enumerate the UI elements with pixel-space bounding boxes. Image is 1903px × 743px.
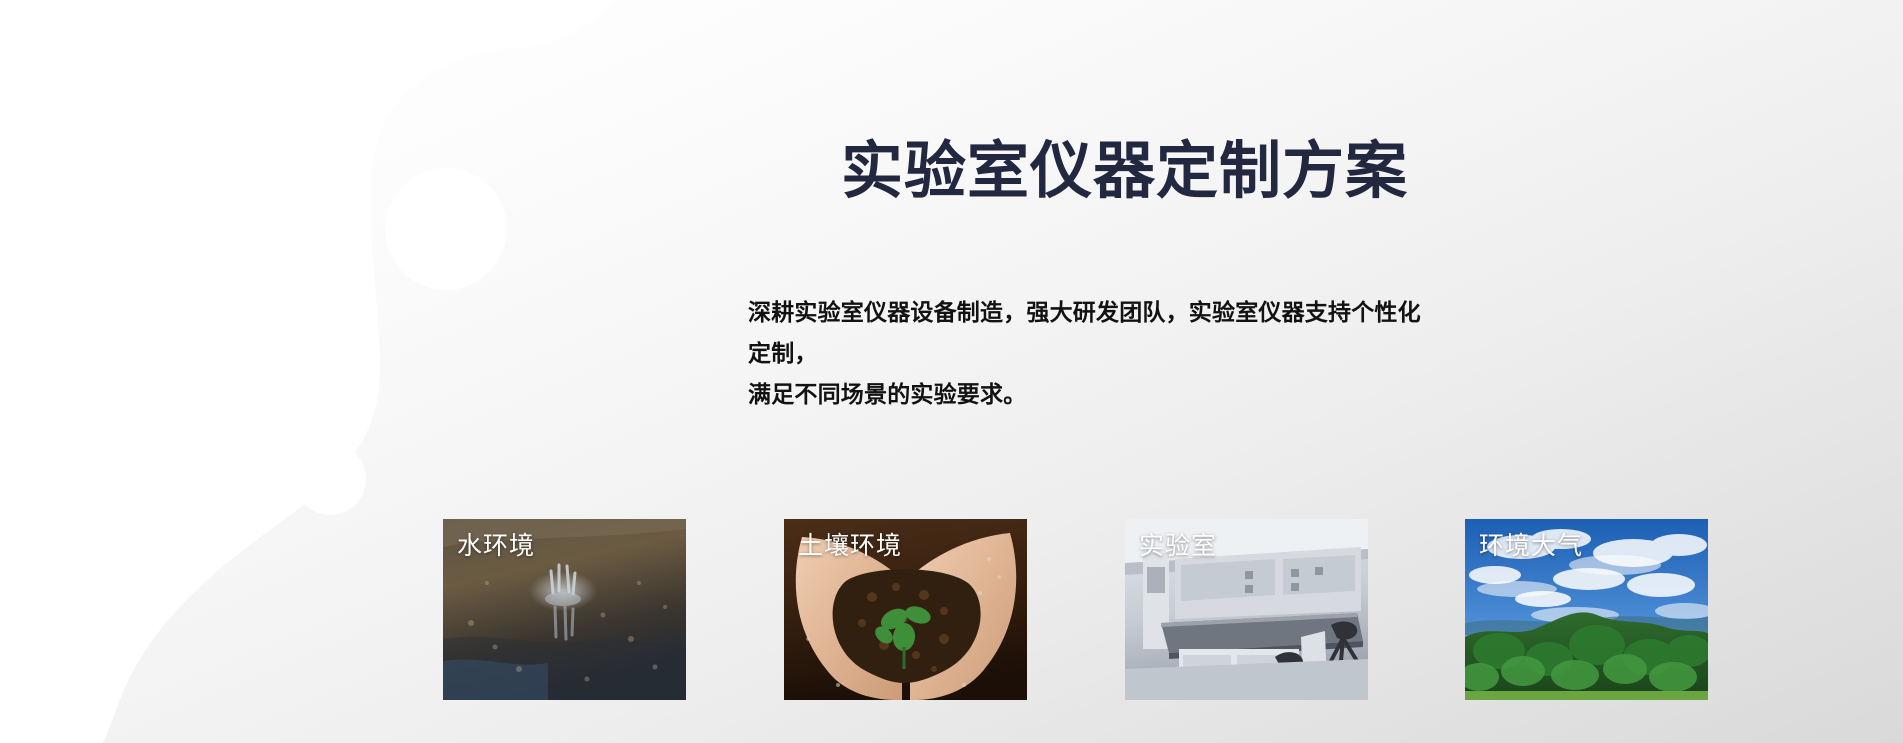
category-card-label: 土壤环境	[798, 529, 902, 563]
category-card-atmosphere[interactable]: 环境大气	[1465, 519, 1708, 700]
category-card-list: 水环境	[443, 519, 1708, 700]
banner-stage: 实验室仪器定制方案 深耕实验室仪器设备制造，强大研发团队，实验室仪器支持个性化定…	[0, 0, 1903, 743]
subtitle-line-2: 满足不同场景的实验要求。	[748, 374, 1428, 415]
page-subtitle: 深耕实验室仪器设备制造，强大研发团队，实验室仪器支持个性化定制， 满足不同场景的…	[748, 292, 1428, 415]
category-card-label: 环境大气	[1479, 529, 1583, 563]
category-card-water[interactable]: 水环境	[443, 519, 686, 700]
page-title: 实验室仪器定制方案	[640, 138, 1408, 206]
category-card-laboratory[interactable]: 实验室	[1125, 519, 1368, 700]
decorative-circle-large	[385, 168, 507, 290]
category-card-label: 实验室	[1139, 529, 1217, 563]
category-card-soil[interactable]: 土壤环境	[784, 519, 1027, 700]
decorative-circle-small	[294, 443, 366, 515]
category-card-label: 水环境	[457, 529, 535, 563]
subtitle-line-1: 深耕实验室仪器设备制造，强大研发团队，实验室仪器支持个性化定制，	[748, 292, 1428, 374]
